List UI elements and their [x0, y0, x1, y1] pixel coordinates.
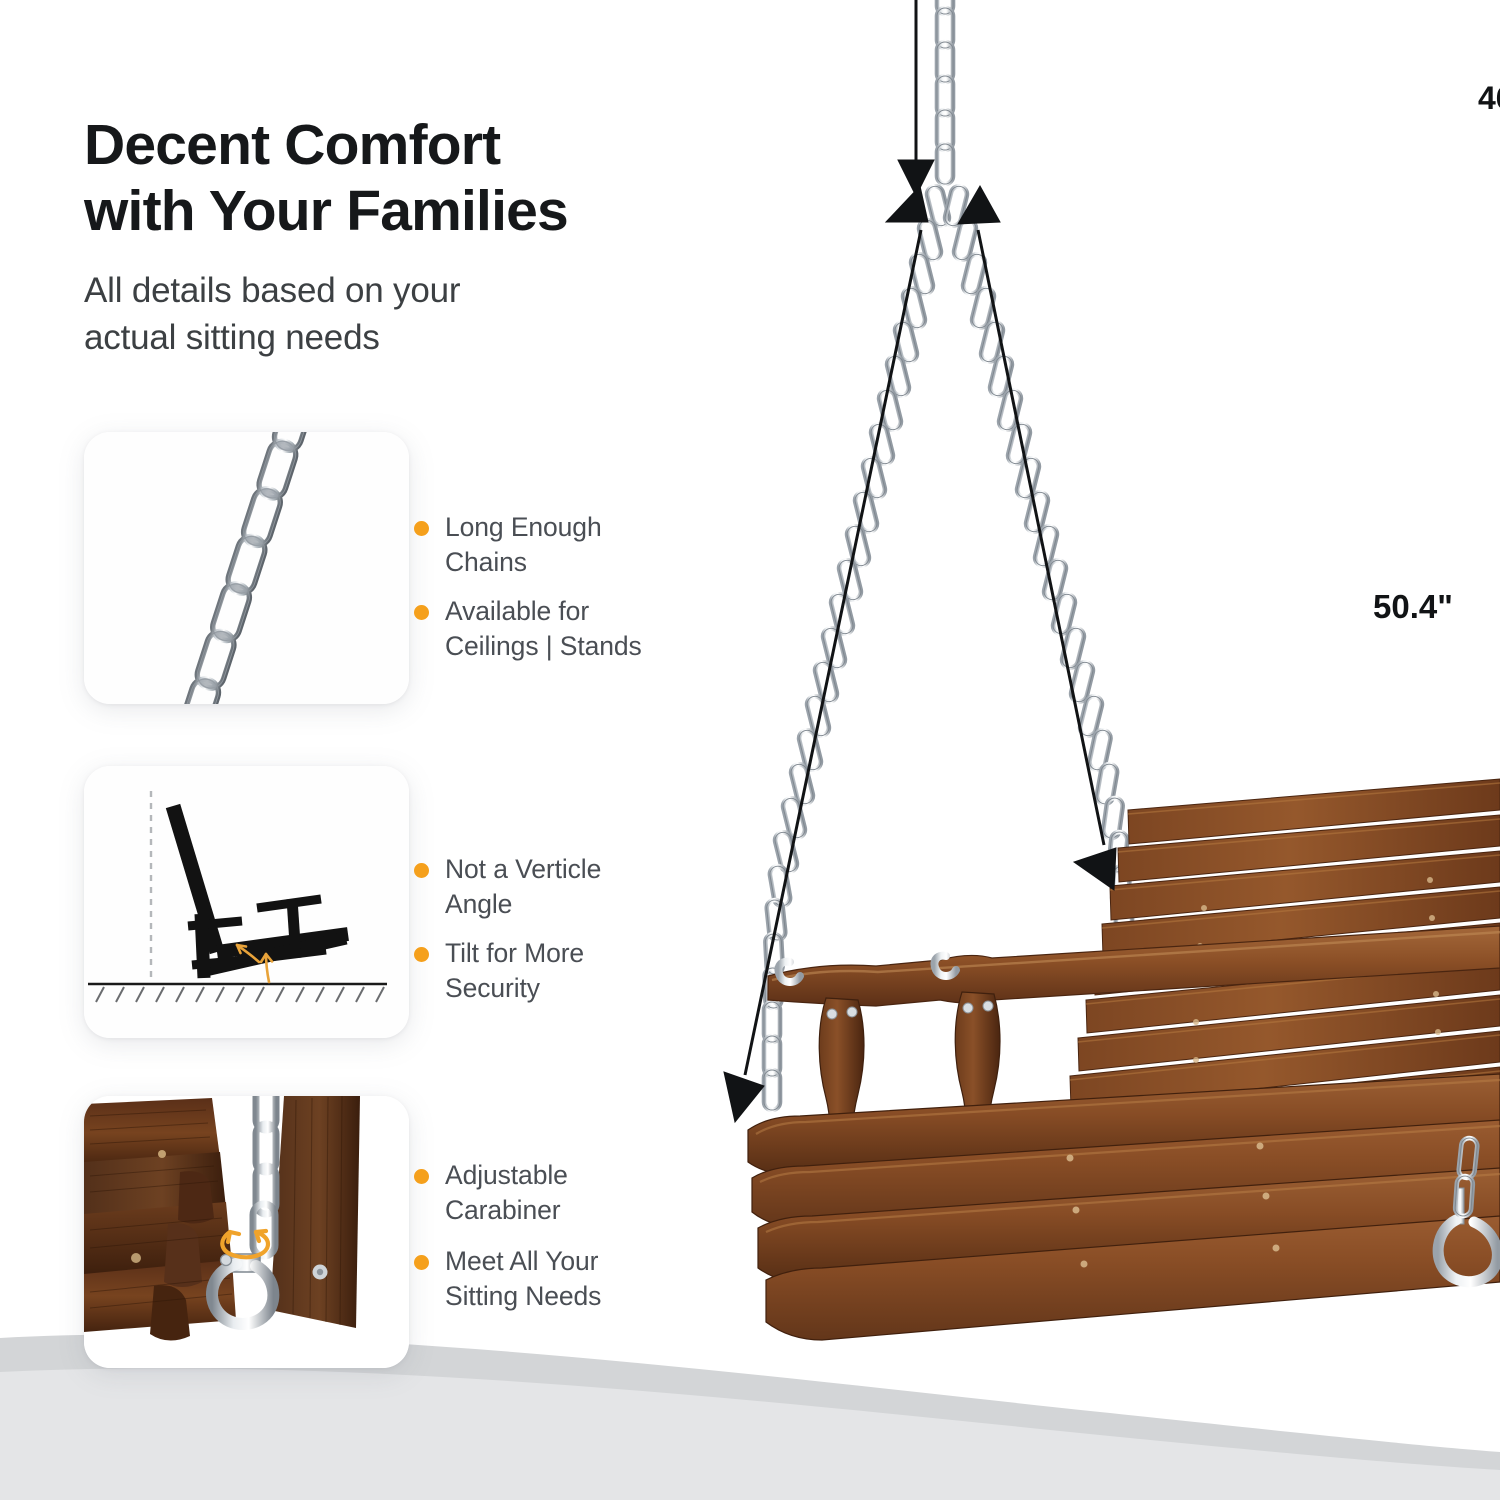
bullet-item: Not a Verticle Angle	[414, 852, 664, 922]
top-chain	[937, 0, 953, 184]
bullet-item: Available for Ceilings | Stands	[414, 594, 664, 664]
feature-block-tilt: Not a Verticle Angle Tilt for More Secur…	[84, 766, 664, 1056]
bullet-label: Adjustable Carabiner	[445, 1158, 568, 1228]
dimension-label-46: 46"	[1478, 80, 1500, 117]
subheadline-line-2: actual sitting needs	[84, 315, 644, 362]
product-dimension-diagram: 46" 50.4" 43.3"	[640, 0, 1500, 1500]
porch-swing-product	[748, 779, 1500, 1340]
bullet-item: Tilt for More Security	[414, 936, 664, 1006]
bullet-dot-icon	[414, 1255, 429, 1270]
seat	[748, 1074, 1500, 1340]
thumbnail-carabiner-photo[interactable]	[84, 1096, 409, 1368]
bullet-item: Long Enough Chains	[414, 510, 664, 580]
bullet-label: Long Enough Chains	[445, 510, 602, 580]
thumbnail-chain-photo[interactable]	[84, 432, 409, 704]
dimension-label-50-4: 50.4"	[1373, 588, 1453, 626]
bullet-dot-icon	[414, 521, 429, 536]
bullet-item: Adjustable Carabiner	[414, 1158, 664, 1228]
feature-block-carabiner: Adjustable Carabiner Meet All Your Sitti…	[84, 1096, 664, 1386]
bullet-label: Meet All Your Sitting Needs	[445, 1244, 601, 1314]
product-feature-graphic: Decent Comfort with Your Families All de…	[0, 0, 1500, 1500]
feature-bullets-chains: Long Enough Chains Available for Ceiling…	[414, 432, 664, 704]
bullet-label: Not a Verticle Angle	[445, 852, 601, 922]
dimension-line-46	[898, 0, 934, 196]
feature-bullets-tilt: Not a Verticle Angle Tilt for More Secur…	[414, 766, 664, 1038]
bullet-dot-icon	[414, 1169, 429, 1184]
feature-block-chains: Long Enough Chains Available for Ceiling…	[84, 432, 664, 722]
thumbnail-tilt-angle-diagram[interactable]	[84, 766, 409, 1038]
subheadline-line-1: All details based on your	[84, 268, 644, 315]
bullet-item: Meet All Your Sitting Needs	[414, 1244, 664, 1314]
bullet-label: Available for Ceilings | Stands	[445, 594, 642, 664]
bullet-label: Tilt for More Security	[445, 936, 584, 1006]
feature-bullets-carabiner: Adjustable Carabiner Meet All Your Sitti…	[414, 1096, 664, 1368]
bullet-dot-icon	[414, 863, 429, 878]
bullet-dot-icon	[414, 947, 429, 962]
page-subtitle: All details based on your actual sitting…	[84, 268, 644, 361]
bullet-dot-icon	[414, 605, 429, 620]
